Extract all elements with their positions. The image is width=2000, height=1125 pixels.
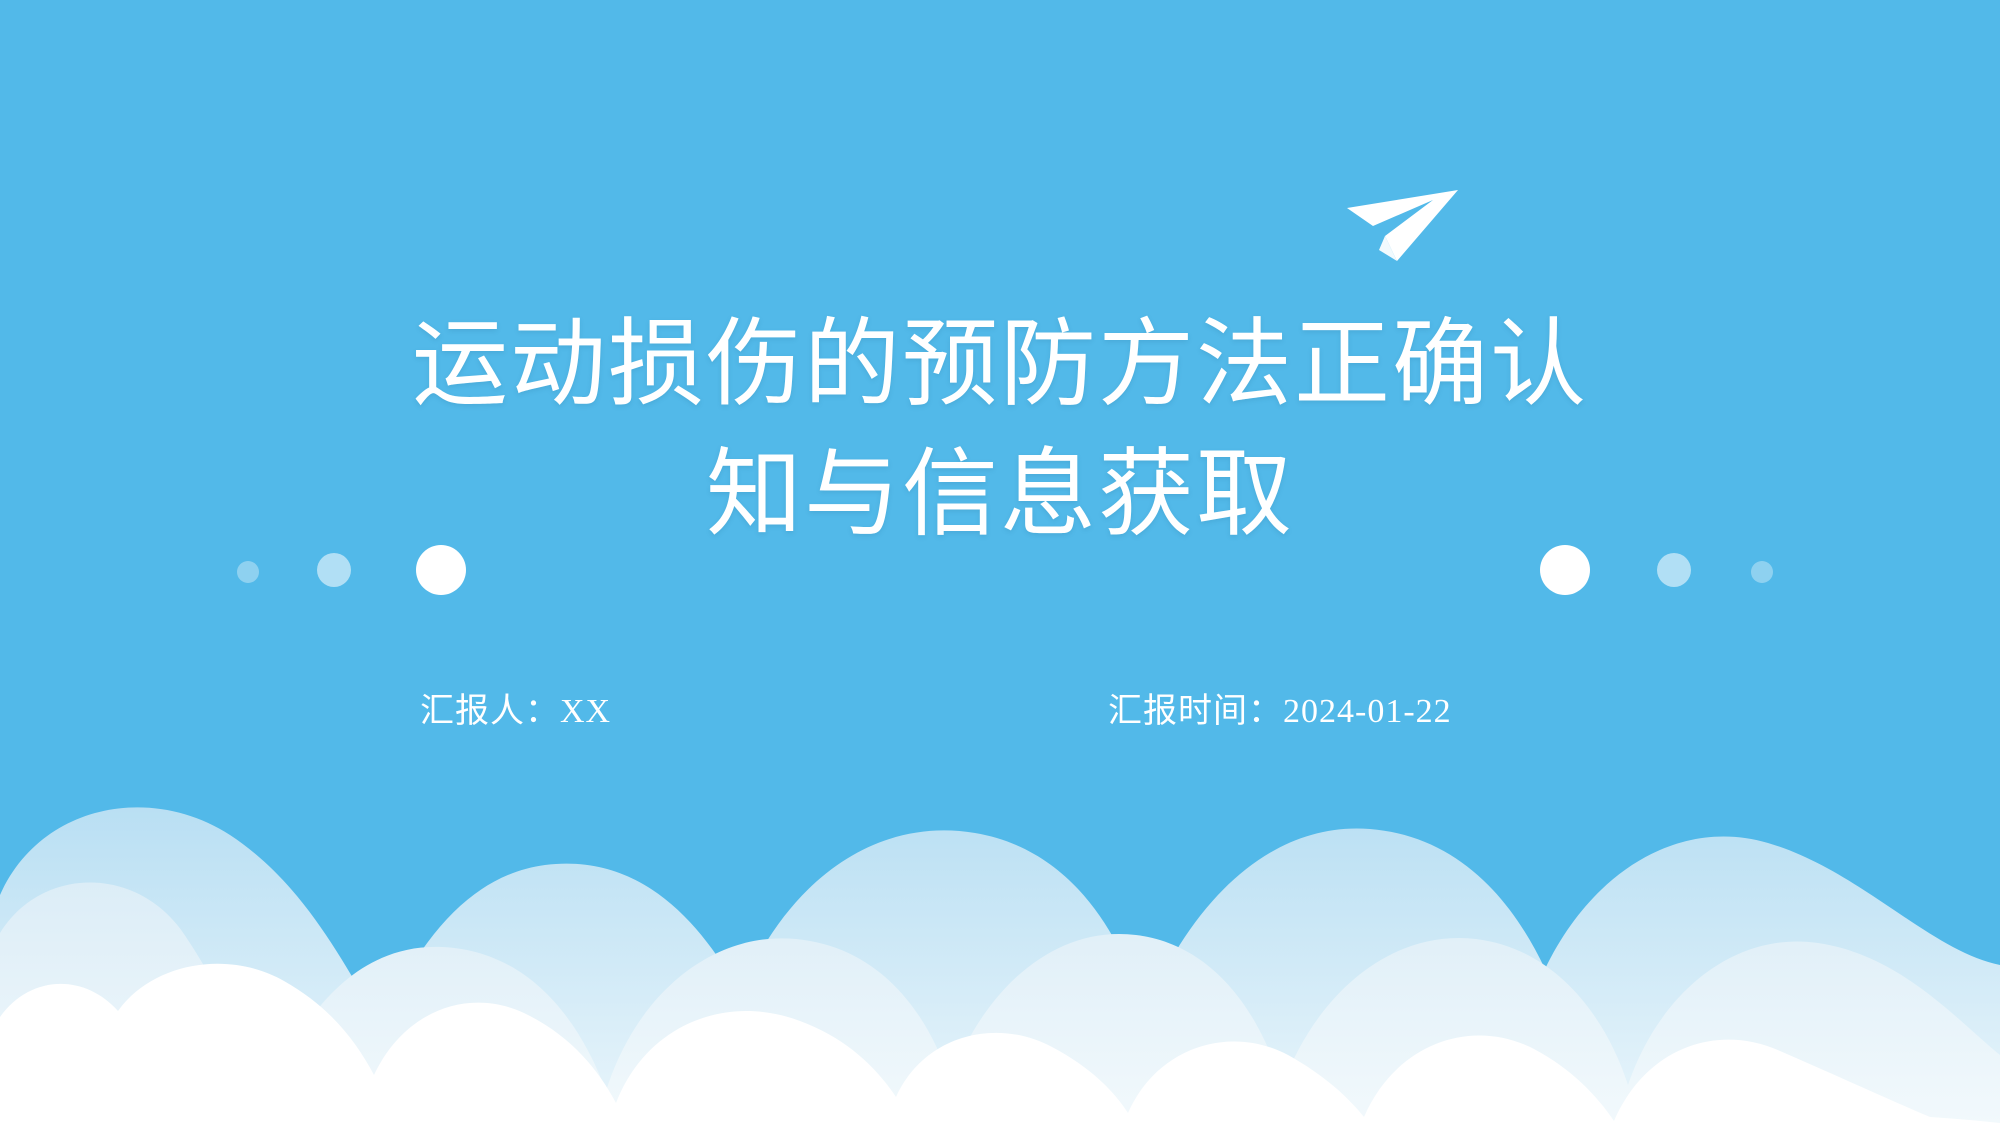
title-line-2: 知与信息获取 (0, 430, 2000, 560)
cloud-decoration (0, 725, 2000, 1125)
title-line-1: 运动损伤的预防方法正确认 (0, 300, 2000, 430)
paper-plane-icon (1345, 188, 1460, 263)
title-slide: 运动损伤的预防方法正确认 知与信息获取 汇报人：XX 汇报时间：2024-01-… (0, 0, 2000, 1125)
dot-right-small (1751, 561, 1773, 583)
page-title: 运动损伤的预防方法正确认 知与信息获取 (0, 300, 2000, 559)
dot-left-small (237, 561, 259, 583)
